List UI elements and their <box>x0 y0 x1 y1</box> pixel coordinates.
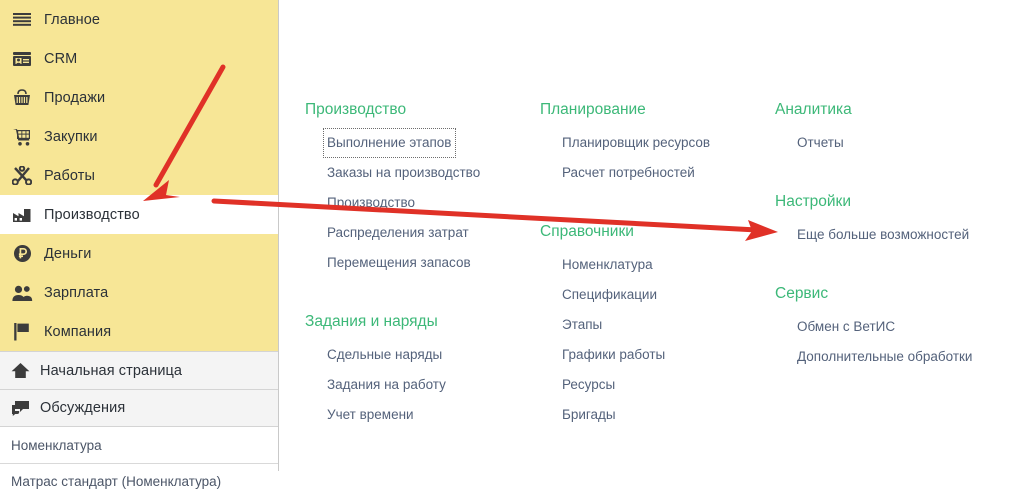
sidebar-item-works[interactable]: Работы <box>0 156 278 195</box>
command-brigady[interactable]: Бригады <box>558 400 621 430</box>
sidebar-item-label: CRM <box>44 51 77 67</box>
command-resursy[interactable]: Ресурсы <box>558 370 620 400</box>
history-item[interactable]: Номенклатура <box>0 427 278 463</box>
history-item[interactable]: Матрас стандарт (Номенклатура) <box>0 463 278 499</box>
sidebar-item-label: Начальная страница <box>40 363 182 379</box>
sidebar-item-label: Компания <box>44 324 111 340</box>
sidebar-item-label: Деньги <box>44 246 91 262</box>
command-obmen-s-vetis[interactable]: Обмен с ВетИС <box>793 312 900 342</box>
command-otchety[interactable]: Отчеты <box>793 128 849 158</box>
command-proizvodstvo[interactable]: Производство <box>323 188 420 218</box>
sidebar-item-production[interactable]: Производство <box>0 195 278 234</box>
group-title: Планирование <box>540 96 775 124</box>
flag-icon <box>11 321 33 343</box>
command-eshche-bolshe-vozmozhnostey[interactable]: Еще больше возможностей <box>793 220 974 250</box>
basket-icon <box>11 87 33 109</box>
command-group-analytics: Аналитика Отчеты <box>775 96 1010 158</box>
sidebar-item-label: Продажи <box>44 90 105 106</box>
command-group-tasks: Задания и наряды Сдельные наряды Задания… <box>305 308 540 430</box>
home-icon <box>9 360 31 382</box>
people-icon <box>11 282 33 304</box>
command-grafiki-raboty[interactable]: Графики работы <box>558 340 670 370</box>
sidebar-shortcuts: Начальная страница Обсуждения <box>0 351 278 426</box>
crm-card-icon <box>11 48 33 70</box>
sidebar-item-label: Обсуждения <box>40 400 125 416</box>
hamburger-icon <box>11 9 33 31</box>
sidebar-item-label: Закупки <box>44 129 98 145</box>
command-column-2: Планирование Планировщик ресурсов Расчет… <box>540 0 775 471</box>
sidebar-item-label: Главное <box>44 12 100 28</box>
group-title: Производство <box>305 96 540 124</box>
sidebar-item-sales[interactable]: Продажи <box>0 78 278 117</box>
tools-icon <box>11 165 33 187</box>
sidebar-item-purchases[interactable]: Закупки <box>0 117 278 156</box>
command-spetsifikatsii[interactable]: Спецификации <box>558 280 662 310</box>
group-title: Аналитика <box>775 96 1010 124</box>
command-raspredeleniya-zatrat[interactable]: Распределения затрат <box>323 218 474 248</box>
command-planirovshchik-resursov[interactable]: Планировщик ресурсов <box>558 128 715 158</box>
sidebar-item-label: Работы <box>44 168 95 184</box>
command-column-1: Производство Выполнение этапов Заказы на… <box>305 0 540 471</box>
command-column-3: Аналитика Отчеты Настройки Еще больше во… <box>775 0 1010 471</box>
command-group-catalogs: Справочники Номенклатура Спецификации Эт… <box>540 218 775 430</box>
command-uchet-vremeni[interactable]: Учет времени <box>323 400 419 430</box>
sidebar-item-company[interactable]: Компания <box>0 312 278 351</box>
main-content: Производство Выполнение этапов Заказы на… <box>279 0 1024 471</box>
command-zakazy-na-proizvodstvo[interactable]: Заказы на производство <box>323 158 485 188</box>
sidebar-item-label: Зарплата <box>44 285 108 301</box>
sections-panel: Главное CRM <box>0 0 278 351</box>
group-title: Задания и наряды <box>305 308 540 336</box>
sidebar-item-home-page[interactable]: Начальная страница <box>0 352 278 389</box>
command-etapy[interactable]: Этапы <box>558 310 607 340</box>
factory-icon <box>11 204 33 226</box>
sidebar-item-label: Производство <box>44 207 140 223</box>
command-columns: Производство Выполнение этапов Заказы на… <box>279 0 1024 471</box>
sidebar-item-discussions[interactable]: Обсуждения <box>0 389 278 426</box>
command-group-settings: Настройки Еще больше возможностей <box>775 188 1010 250</box>
command-sdelnye-naryady[interactable]: Сдельные наряды <box>323 340 447 370</box>
sidebar-item-crm[interactable]: CRM <box>0 39 278 78</box>
sidebar-item-money[interactable]: Деньги <box>0 234 278 273</box>
command-group-planning: Планирование Планировщик ресурсов Расчет… <box>540 96 775 188</box>
sidebar-item-main[interactable]: Главное <box>0 0 278 39</box>
command-peremeshcheniya-zapasov[interactable]: Перемещения запасов <box>323 248 476 278</box>
command-raschet-potrebnostey[interactable]: Расчет потребностей <box>558 158 700 188</box>
ruble-coin-icon <box>11 243 33 265</box>
command-group-production: Производство Выполнение этапов Заказы на… <box>305 96 540 278</box>
group-title: Сервис <box>775 280 1010 308</box>
command-group-service: Сервис Обмен с ВетИС Дополнительные обра… <box>775 280 1010 372</box>
group-title: Справочники <box>540 218 775 246</box>
sidebar: Главное CRM <box>0 0 279 471</box>
cart-icon <box>11 126 33 148</box>
command-vypolnenie-etapov[interactable]: Выполнение этапов <box>323 128 456 158</box>
command-nomenklatura[interactable]: Номенклатура <box>558 250 658 280</box>
sidebar-history: Номенклатура Матрас стандарт (Номенклату… <box>0 426 278 499</box>
sidebar-item-salary[interactable]: Зарплата <box>0 273 278 312</box>
command-zadaniya-na-rabotu[interactable]: Задания на работу <box>323 370 451 400</box>
group-title: Настройки <box>775 188 1010 216</box>
command-dopolnitelnye-obrabotki[interactable]: Дополнительные обработки <box>793 342 977 372</box>
chat-icon <box>9 397 31 419</box>
app-root: Главное CRM <box>0 0 1024 471</box>
